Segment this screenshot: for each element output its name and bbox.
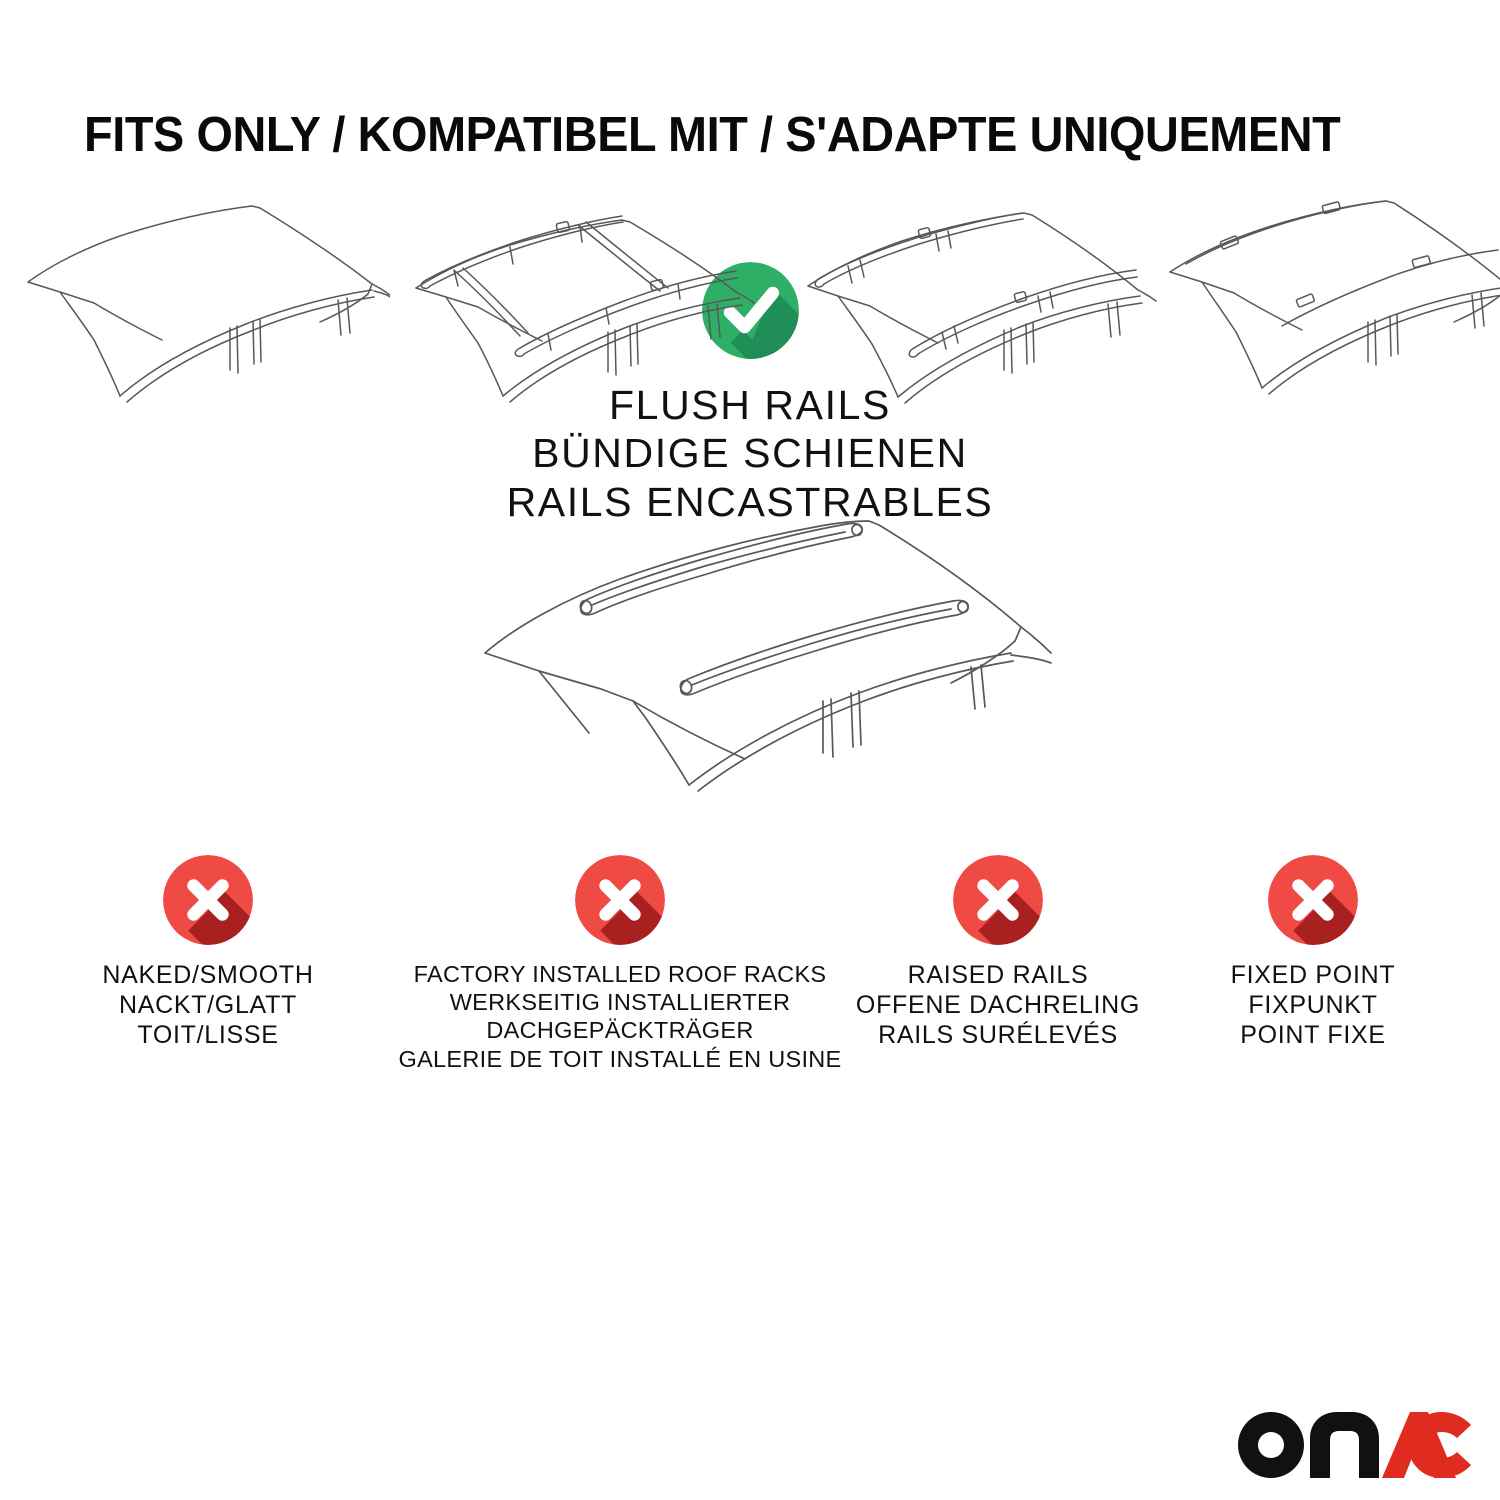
incompatible-label-de: NACKT/GLATT [102, 990, 313, 1020]
page-title: FITS ONLY / KOMPATIBEL MIT / S'ADAPTE UN… [84, 107, 1340, 163]
incompatible-label-de-2: DACHGEPÄCKTRÄGER [398, 1016, 841, 1044]
car-roof-raised-rails-illustration [790, 198, 1160, 413]
incompatible-label-de: FIXPUNKT [1231, 990, 1396, 1020]
incompatible-label-fr: POINT FIXE [1231, 1020, 1396, 1050]
incompatible-label-de-1: WERKSEITIG INSTALLIERTER [398, 988, 841, 1016]
incompatible-label-fr: TOIT/LISSE [102, 1020, 313, 1050]
incompatible-labels: NAKED/SMOOTH NACKT/GLATT TOIT/LISSE [102, 960, 313, 1050]
incompatible-labels: RAISED RAILS OFFENE DACHRELING RAILS SUR… [856, 960, 1140, 1050]
cross-circle-icon [575, 855, 665, 945]
omac-logo [1238, 1412, 1474, 1478]
incompatible-label-en: NAKED/SMOOTH [102, 960, 313, 990]
car-roof-naked-smooth-illustration [20, 200, 390, 415]
cross-circle-icon [953, 855, 1043, 945]
incompatible-label-en: RAISED RAILS [856, 960, 1140, 990]
car-roof-fixed-point-illustration [1160, 198, 1500, 413]
car-roof-factory-roof-racks-illustration [392, 198, 762, 413]
incompatible-label-en: FACTORY INSTALLED ROOF RACKS [398, 960, 841, 988]
incompatible-label-fr: RAILS SURÉLEVÉS [856, 1020, 1140, 1050]
incompatible-section: NAKED/SMOOTH NACKT/GLATT TOIT/LISSE FACT… [0, 855, 1500, 1295]
cross-circle-icon [1268, 855, 1358, 945]
incompatible-labels: FACTORY INSTALLED ROOF RACKS WERKSEITIG … [398, 960, 841, 1073]
car-roof-flush-rails-illustration [455, 495, 1055, 795]
header-banner: FITS ONLY / KOMPATIBEL MIT / S'ADAPTE UN… [84, 104, 1424, 166]
incompatible-column-factory-roof-racks: FACTORY INSTALLED ROOF RACKS WERKSEITIG … [400, 855, 840, 1073]
incompatible-label-de: OFFENE DACHRELING [856, 990, 1140, 1020]
incompatible-column-raised-rails: RAISED RAILS OFFENE DACHRELING RAILS SUR… [838, 855, 1158, 1050]
cross-circle-icon [163, 855, 253, 945]
incompatible-column-naked-smooth: NAKED/SMOOTH NACKT/GLATT TOIT/LISSE [38, 855, 378, 1050]
incompatible-labels: FIXED POINT FIXPUNKT POINT FIXE [1231, 960, 1396, 1050]
incompatible-label-fr: GALERIE DE TOIT INSTALLÉ EN USINE [398, 1045, 841, 1073]
compatible-label-de: BÜNDIGE SCHIENEN [507, 429, 994, 477]
incompatible-label-en: FIXED POINT [1231, 960, 1396, 990]
incompatible-column-fixed-point: FIXED POINT FIXPUNKT POINT FIXE [1168, 855, 1458, 1050]
